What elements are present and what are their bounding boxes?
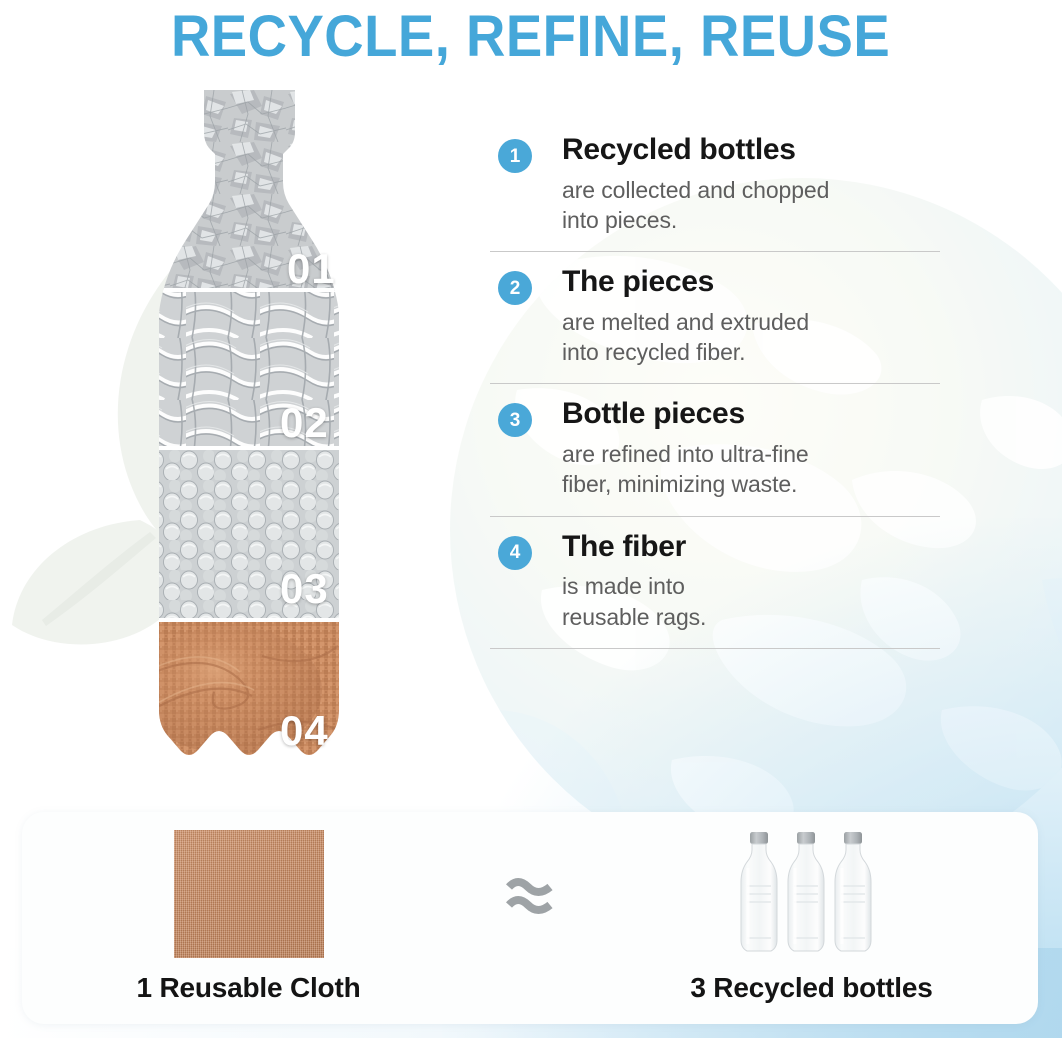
step-title-2: The pieces [562,266,940,298]
segmented-bottle-graphic: 01 02 03 04 [112,90,387,790]
step-title-3: Bottle pieces [562,398,940,430]
comparison-right-label: 3 Recycled bottles [690,972,932,1004]
bottle-segment-number-04: 04 [280,710,329,752]
bottles-art [732,828,892,958]
comparison-left-label: 1 Reusable Cloth [137,972,361,1004]
comparison-right: 3 Recycled bottles [585,812,1038,1024]
process-steps-list: 1 Recycled bottles are collected and cho… [490,134,940,663]
step-title-4: The fiber [562,531,940,563]
infographic-root: RECYCLE, REFINE, REUSE [0,0,1062,1038]
bottle-segment-number-02: 02 [280,402,329,444]
bottle-segment-number-03: 03 [280,568,329,610]
approximately-equal-icon [506,873,554,919]
title-bar: RECYCLE, REFINE, REUSE [0,0,1062,74]
step-badge-3: 3 [498,403,532,437]
step-description-3: are refined into ultra-fine fiber, minim… [562,439,940,500]
reusable-cloth-icon [174,830,324,958]
process-step-1: 1 Recycled bottles are collected and cho… [490,134,940,252]
approx-equal-wrap [475,812,585,1024]
step-badge-2: 2 [498,271,532,305]
step-badge-4: 4 [498,536,532,570]
comparison-panel: 1 Reusable Cloth [22,812,1038,1024]
process-step-2: 2 The pieces are melted and extruded int… [490,266,940,384]
bottle-segment-number-01: 01 [287,248,336,290]
step-description-2: are melted and extruded into recycled fi… [562,307,940,368]
bottle-shape-svg [112,90,387,790]
page-title: RECYCLE, REFINE, REUSE [171,8,890,66]
step-description-1: are collected and chopped into pieces. [562,175,940,236]
comparison-left: 1 Reusable Cloth [22,812,475,1024]
step-title-1: Recycled bottles [562,134,940,166]
step-badge-1: 1 [498,139,532,173]
recycled-bottles-icon [732,828,892,958]
cloth-swatch-art [174,828,324,958]
process-step-3: 3 Bottle pieces are refined into ultra-f… [490,398,940,516]
step-description-4: is made into reusable rags. [562,571,940,632]
process-step-4: 4 The fiber is made into reusable rags. [490,531,940,649]
